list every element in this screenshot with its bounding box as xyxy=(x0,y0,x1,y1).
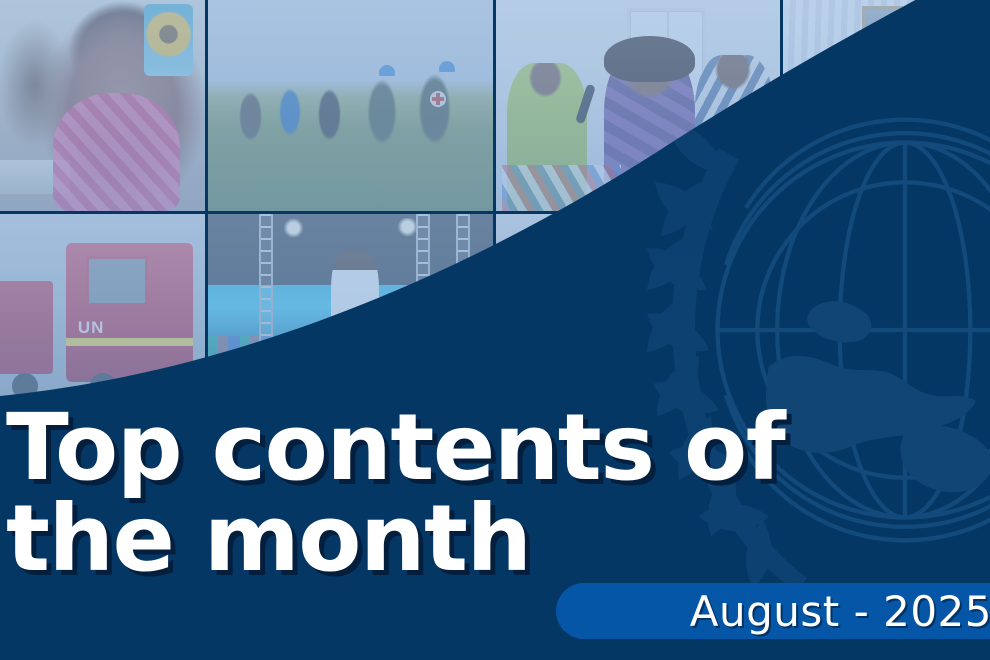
page-title: Top contents of the month xyxy=(6,402,906,584)
banner: UN xyxy=(0,0,990,660)
market-shelf xyxy=(0,160,70,194)
truck-window xyxy=(86,256,148,306)
photo-surgical-team xyxy=(783,0,990,211)
photo-surgical-team-scene xyxy=(783,0,990,211)
speaking-woman xyxy=(604,46,695,211)
photo-market-woman xyxy=(0,0,205,211)
photo-crowd-blue-helmets-scene xyxy=(496,214,780,424)
photo-un-fire-truck: UN xyxy=(0,214,205,424)
window-frame xyxy=(627,8,707,98)
surgical-cap-icon xyxy=(800,97,846,127)
patient-drape xyxy=(903,97,986,165)
speaker-hair xyxy=(604,36,695,82)
photo-partial-right-scene xyxy=(783,214,990,424)
photo-partial-right xyxy=(783,214,990,424)
photo-concert-stage xyxy=(208,214,493,424)
seated-participant-left xyxy=(507,63,587,211)
photo-concert-stage-scene xyxy=(208,214,493,424)
photo-un-fire-truck-scene: UN xyxy=(0,214,205,424)
date-badge: August - 2025 xyxy=(556,583,990,639)
crowd-figures xyxy=(496,214,780,424)
un-fire-truck-body xyxy=(66,243,193,382)
photo-crowd-blue-helmets xyxy=(496,214,780,424)
photo-peacekeepers-field-scene xyxy=(208,0,493,211)
un-vehicle-marking: UN xyxy=(78,319,105,336)
patterned-fabric xyxy=(502,165,621,211)
stage-performer xyxy=(331,252,379,391)
microphone-icon xyxy=(575,84,596,125)
flag-icon xyxy=(938,25,979,65)
field-crowd xyxy=(219,63,481,152)
mobile-phone-icon xyxy=(513,248,529,274)
surgeon-right xyxy=(845,89,915,211)
pink-patterned-dress xyxy=(53,93,180,211)
stage-truss xyxy=(259,214,273,378)
photo-woman-microphone xyxy=(496,0,780,211)
red-cross-icon xyxy=(430,91,446,107)
surgeon-left xyxy=(787,114,857,211)
stage-truss xyxy=(456,214,470,378)
photo-peacekeepers-field xyxy=(208,0,493,211)
led-screen xyxy=(208,285,493,365)
photo-row-bottom: UN xyxy=(0,214,990,424)
blue-helmet-icon xyxy=(621,323,667,353)
surgical-cap-icon xyxy=(858,72,904,102)
stage-truss xyxy=(416,214,430,378)
photo-market-woman-scene xyxy=(0,0,205,211)
blue-helmet-icon xyxy=(547,306,593,336)
stage-mural xyxy=(416,298,459,369)
second-truck xyxy=(0,281,53,373)
plastic-drapes xyxy=(783,0,990,211)
date-badge-label: August - 2025 xyxy=(690,587,990,636)
wall-portrait xyxy=(862,6,903,67)
photo-woman-microphone-scene xyxy=(496,0,780,211)
stage-lights xyxy=(208,218,493,243)
photo-row-top xyxy=(0,0,990,211)
seated-participant-right xyxy=(695,55,775,211)
blue-helmet-icon xyxy=(439,61,455,72)
sunflower-art xyxy=(144,4,193,76)
blue-helmet-icon xyxy=(700,311,746,341)
blue-helmet-icon xyxy=(379,65,395,76)
